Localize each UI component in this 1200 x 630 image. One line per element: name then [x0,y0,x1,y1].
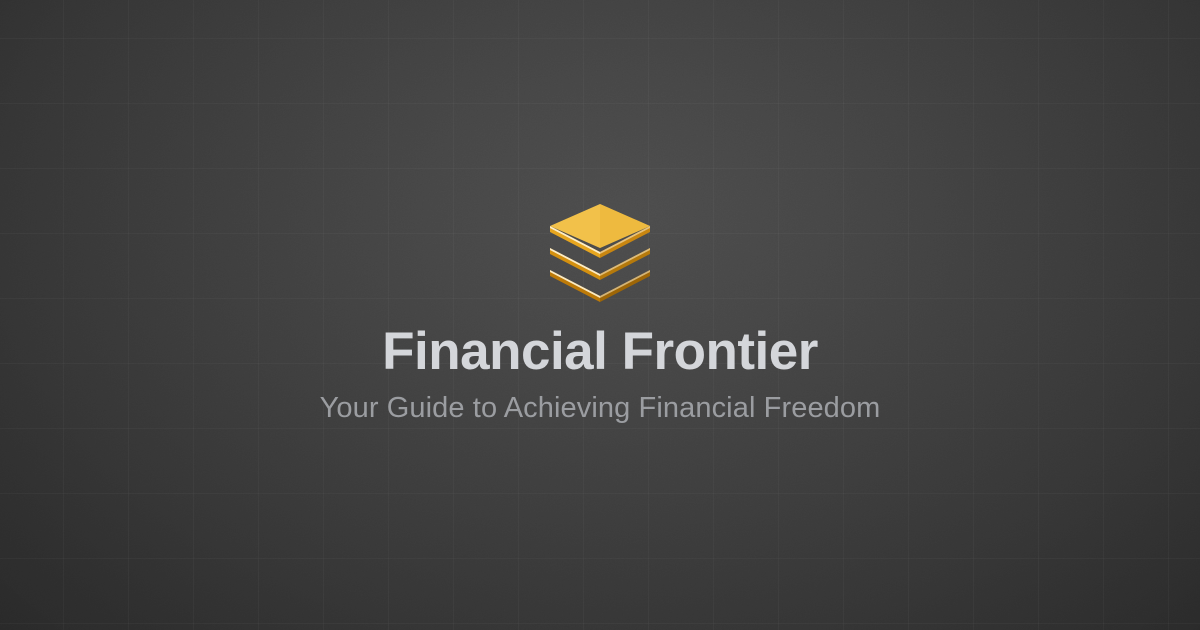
layered-stack-logo-icon [550,204,650,302]
card-content: Financial Frontier Your Guide to Achievi… [0,0,1200,630]
og-share-card: Financial Frontier Your Guide to Achievi… [0,0,1200,630]
page-tagline: Your Guide to Achieving Financial Freedo… [320,391,881,426]
page-title: Financial Frontier [382,324,818,380]
